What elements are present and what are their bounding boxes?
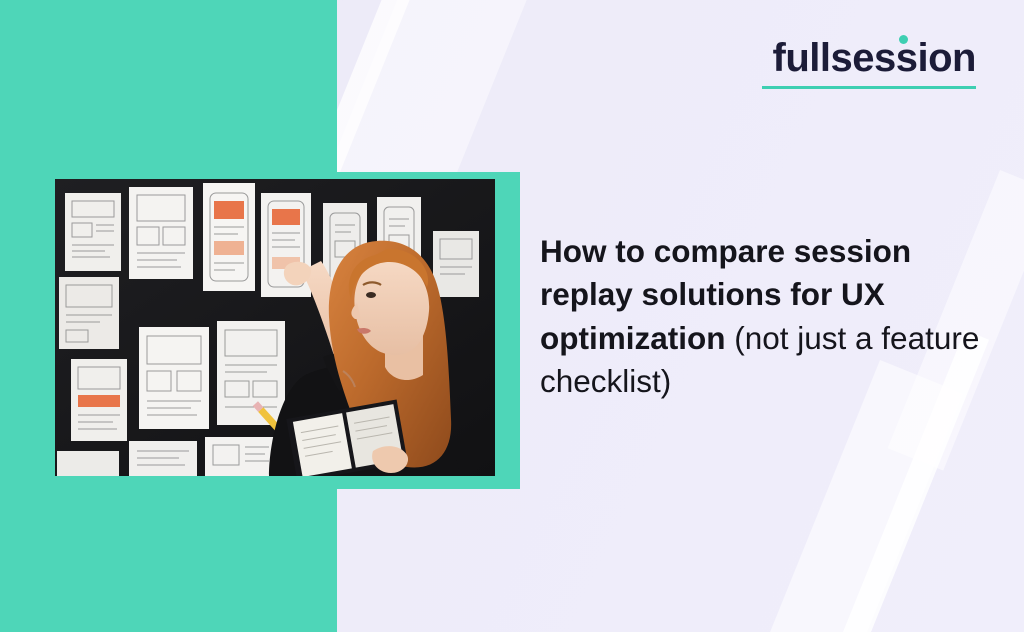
- brand-logo-underline: [762, 86, 976, 89]
- photo-frame: [48, 172, 520, 489]
- promo-banner: fullsession: [0, 0, 1024, 632]
- page-title: How to compare session replay solutions …: [540, 230, 992, 404]
- photo-image: [55, 179, 495, 476]
- dot-accent-icon: [899, 35, 908, 44]
- brand-logo: fullsession: [773, 38, 976, 78]
- brand-logo-text: fullsession: [773, 36, 976, 80]
